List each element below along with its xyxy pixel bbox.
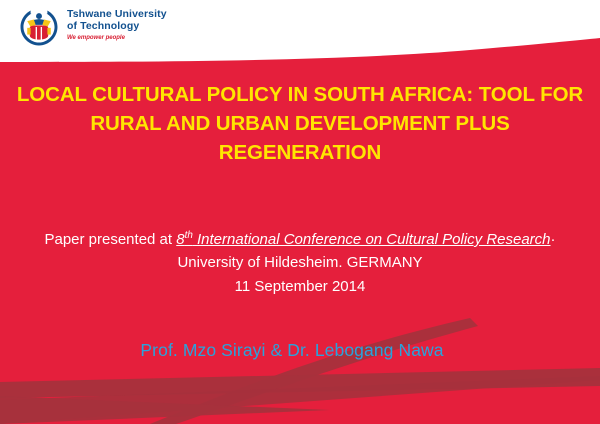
title-line-1: LOCAL CULTURAL POLICY IN SOUTH AFRICA: T… bbox=[17, 83, 583, 106]
subtitle-line-conference: Paper presented at 8th International Con… bbox=[10, 228, 590, 251]
logo-wordmark: Tshwane University of Technology We empo… bbox=[67, 6, 167, 41]
slide-header: Tshwane University of Technology We empo… bbox=[0, 0, 600, 62]
title-line-3: REGENERATION bbox=[219, 141, 381, 164]
logo-line-2: of Technology bbox=[67, 21, 167, 33]
institution-logo: Tshwane University of Technology We empo… bbox=[18, 6, 167, 48]
slide-subtitle: Paper presented at 8th International Con… bbox=[10, 228, 590, 298]
conference-title: International Conference on Cultural Pol… bbox=[193, 231, 551, 248]
tut-emblem-icon bbox=[18, 6, 60, 48]
subtitle-line-venue: University of Hildesheim. GERMANY bbox=[10, 251, 590, 274]
logo-tagline: We empower people bbox=[67, 35, 167, 42]
presentation-slide: Tshwane University of Technology We empo… bbox=[0, 0, 600, 424]
subtitle-prefix: Paper presented at bbox=[44, 231, 176, 248]
title-line-2: RURAL AND URBAN DEVELOPMENT PLUS bbox=[90, 112, 509, 135]
slide-authors: Prof. Mzo Sirayi & Dr. Lebogang Nawa bbox=[0, 340, 584, 361]
conference-ordinal-suffix: th bbox=[185, 230, 193, 241]
subtitle-suffix: · bbox=[551, 231, 556, 248]
logo-line-1: Tshwane University bbox=[67, 9, 167, 21]
subtitle-line-date: 11 September 2014 bbox=[10, 275, 590, 298]
conference-ordinal: 8 bbox=[176, 231, 184, 248]
slide-title: LOCAL CULTURAL POLICY IN SOUTH AFRICA: T… bbox=[8, 80, 592, 167]
conference-name: 8th International Conference on Cultural… bbox=[176, 231, 550, 248]
